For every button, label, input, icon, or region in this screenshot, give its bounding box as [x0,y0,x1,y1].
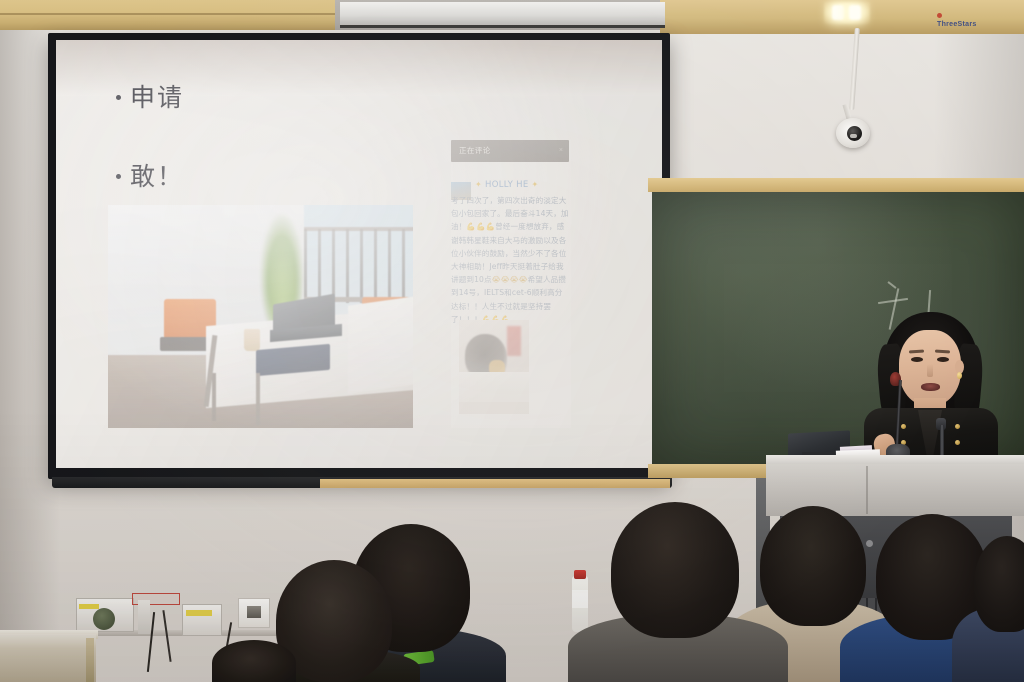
podium-panel-seam [866,466,868,514]
ceiling-lamp-icon [824,2,870,24]
side-table [0,634,96,682]
slide-social-post: 正在评论 × ✦ HOLLY HE ✦ 考了四次了，第四次出奇的淡定大包小包回家… [451,140,571,428]
list-item [212,640,296,682]
warning-label-icon [79,604,99,609]
bullet-dot-icon [116,95,121,100]
slide-bullet-1: 申请 [116,78,184,114]
list-item [611,502,739,638]
wall-second-control-box [182,604,222,636]
podium-lock-knob [866,540,873,547]
wall-junction-strip [138,600,150,634]
second-microphone-stand [940,425,944,459]
slide-workspace-photo [108,205,413,428]
list-item [760,506,866,626]
jacket-button [955,424,960,429]
speaker-mouth [921,383,940,391]
camera-lens-icon [847,126,862,141]
speaker-eye-left [911,357,923,362]
chalkboard-top-trim [648,178,1024,192]
bullet-dot-icon [116,174,121,179]
warning-label-icon [186,610,212,616]
projection-screen-frame: 申请 敢！ [48,33,670,479]
projection-screen: 申请 敢！ [56,40,662,468]
jacket-button [955,440,960,445]
side-table-leg [86,638,94,682]
water-bottle-cap [574,570,586,579]
slide-bullet-2-text: 敢！ [130,157,184,193]
speaker-earring [957,372,962,379]
screen-housing: ThreeStars [340,2,665,28]
post-washout-overlay [451,140,571,428]
water-bottle-label [572,590,588,608]
speaker-nose [927,364,933,377]
photo-washout-overlay [108,205,413,428]
wall-socket-port [247,606,261,618]
podium-surface [766,455,1024,464]
slide-bullet-2: 敢！ [116,157,184,193]
slide-content: 申请 敢！ [56,40,662,468]
projector-brand-label: ThreeStars [937,13,977,28]
slide-bullet-1-text: 申请 [130,78,184,114]
jacket-button [901,424,906,429]
wall-dial-knob [93,608,115,630]
speaker-eye-right [937,357,949,362]
lecture-hall-photo: ThreeStars 申请 敢！ [0,0,1024,682]
screen-bottom-wood-trim [320,479,670,488]
